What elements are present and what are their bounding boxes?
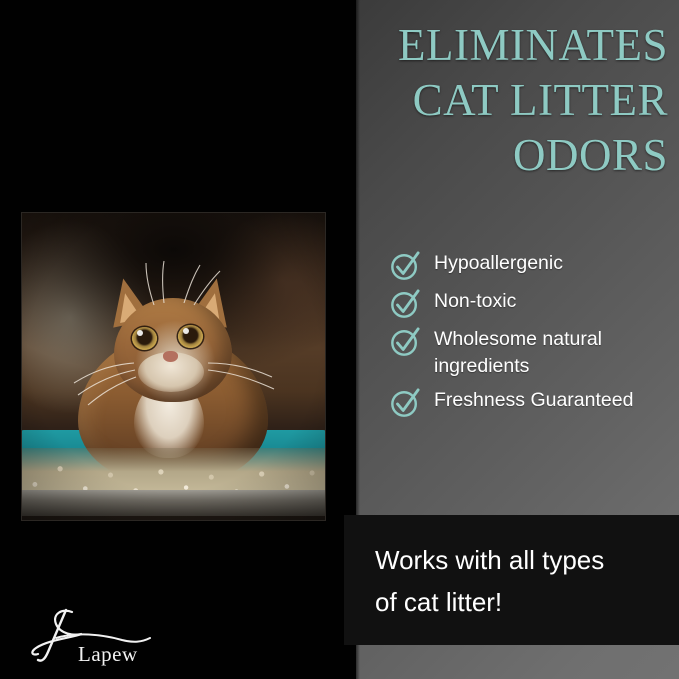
kitten-photo: [22, 213, 325, 520]
callout-text: Works with all types of cat litter!: [375, 539, 679, 623]
list-item: Hypoallergenic: [390, 250, 675, 281]
headline-line-3: ODORS: [300, 128, 668, 183]
brand-name: Lapew: [78, 642, 138, 667]
check-circle-icon: [390, 388, 420, 418]
brand-logo: Lapew: [26, 604, 156, 666]
feature-label: Freshness Guaranteed: [434, 387, 633, 414]
feature-label: Wholesome natural ingredients: [434, 326, 602, 380]
feature-label: Hypoallergenic: [434, 250, 563, 277]
list-item: Non-toxic: [390, 288, 675, 319]
photo-vignette: [22, 213, 325, 520]
list-item: Wholesome natural ingredients: [390, 326, 675, 380]
headline-line-2: CAT LITTER: [300, 73, 668, 128]
check-circle-icon: [390, 289, 420, 319]
product-advertisement: ELIMINATES CAT LITTER ODORS: [0, 0, 679, 679]
headline-line-1: ELIMINATES: [300, 18, 668, 73]
check-circle-icon: [390, 327, 420, 357]
feature-list: Hypoallergenic Non-toxic Wholesome natur…: [390, 250, 675, 425]
feature-label: Non-toxic: [434, 288, 516, 315]
photo-scene: [22, 213, 325, 520]
headline: ELIMINATES CAT LITTER ODORS: [300, 18, 668, 183]
list-item: Freshness Guaranteed: [390, 387, 675, 418]
check-circle-icon: [390, 251, 420, 281]
callout-box: Works with all types of cat litter!: [344, 515, 679, 645]
